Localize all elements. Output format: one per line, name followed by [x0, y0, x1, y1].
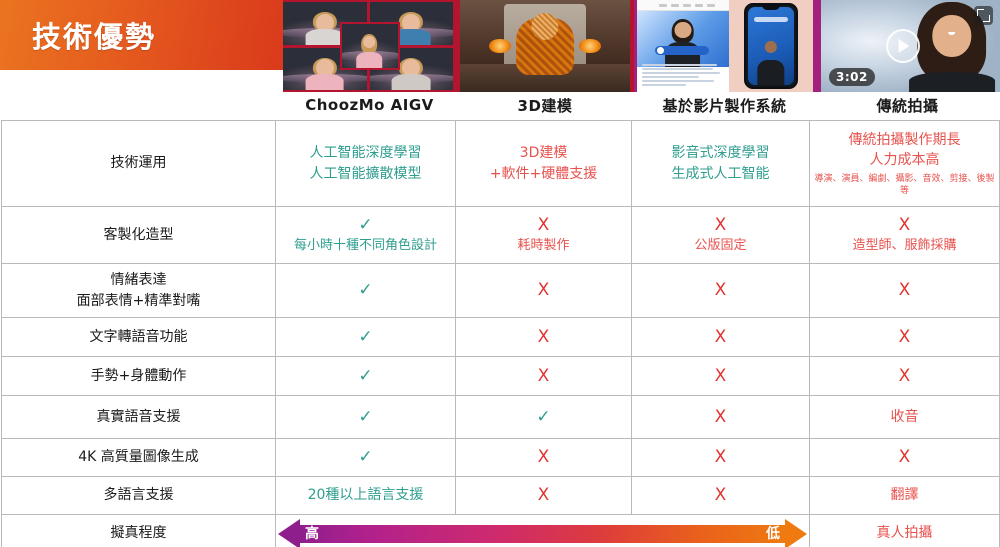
cell-custom-video: X 公版固定 [632, 207, 810, 264]
cell-lang-traditional: 翻譯 [810, 477, 1000, 515]
table-row: 技術運用 人工智能深度學習 人工智能擴散模型 3D建模 +軟件+硬體支援 影音式… [2, 121, 1000, 207]
table-row: 4K 高質量圖像生成 ✓ X X X [2, 439, 1000, 477]
cell-realism-traditional: 真人拍攝 [810, 515, 1000, 547]
cell-custom-aigv: ✓ 每小時十種不同角色設計 [276, 207, 456, 264]
cell-voice-traditional: 收音 [810, 396, 1000, 439]
row-label-line1: 情緒表達 [6, 270, 271, 290]
row-label-line2: 面部表情+精準對嘴 [6, 291, 271, 311]
row-label: 多語言支援 [2, 477, 276, 515]
header-image-traditional-shoot: 3:02 [815, 0, 1000, 92]
arrow-label-low: 低 [766, 526, 780, 542]
header-image-3d-model [456, 0, 634, 92]
cell-tech-3d: 3D建模 +軟件+硬體支援 [456, 121, 632, 207]
table-row: 手勢+身體動作 ✓ X X X [2, 357, 1000, 396]
column-header-traditional-shoot: 傳統拍攝 [815, 92, 1000, 118]
cell-lang-video: X [632, 477, 810, 515]
cell-emotion-traditional: X [810, 264, 1000, 318]
row-label: 情緒表達 面部表情+精準對嘴 [2, 264, 276, 318]
cell-voice-aigv: ✓ [276, 396, 456, 439]
arrow-head-left-icon [278, 519, 300, 547]
cell-gesture-3d: X [456, 357, 632, 396]
table-row: 客製化造型 ✓ 每小時十種不同角色設計 X 耗時製作 X 公版固定 X 造型師、… [2, 207, 1000, 264]
table-row: 情緒表達 面部表情+精準對嘴 ✓ X X X [2, 264, 1000, 318]
header-image-strip: 3:02 [283, 0, 1000, 92]
cell-custom-traditional: X 造型師、服飾採購 [810, 207, 1000, 264]
realism-gradient-arrow: 高 低 [276, 515, 810, 547]
row-label: 客製化造型 [2, 207, 276, 264]
arrow-label-high: 高 [305, 526, 319, 542]
cell-voice-3d: ✓ [456, 396, 632, 439]
row-label: 文字轉語音功能 [2, 318, 276, 357]
cell-tts-video: X [632, 318, 810, 357]
cell-4k-aigv: ✓ [276, 439, 456, 477]
column-header-video-system: 基於影片製作系統 [634, 92, 815, 118]
title-banner: 技術優勢 [0, 0, 283, 70]
cell-4k-traditional: X [810, 439, 1000, 477]
slide-root: 技術優勢 [0, 0, 1000, 547]
cell-tech-aigv: 人工智能深度學習 人工智能擴散模型 [276, 121, 456, 207]
cell-custom-3d: X 耗時製作 [456, 207, 632, 264]
cell-tts-3d: X [456, 318, 632, 357]
table-row: 文字轉語音功能 ✓ X X X [2, 318, 1000, 357]
cell-gesture-traditional: X [810, 357, 1000, 396]
expand-icon[interactable] [974, 6, 993, 25]
cell-emotion-aigv: ✓ [276, 264, 456, 318]
table-row: 真實語音支援 ✓ ✓ X 收音 [2, 396, 1000, 439]
page-title: 技術優勢 [32, 14, 156, 56]
cell-4k-video: X [632, 439, 810, 477]
cell-emotion-video: X [632, 264, 810, 318]
header-image-choozmo-aigv [283, 0, 456, 92]
cell-emotion-3d: X [456, 264, 632, 318]
cell-tech-video: 影音式深度學習 生成式人工智能 [632, 121, 810, 207]
cell-voice-video: X [632, 396, 810, 439]
cell-lang-3d: X [456, 477, 632, 515]
cell-gesture-video: X [632, 357, 810, 396]
arrow-bar [300, 525, 785, 543]
table-row: 擬真程度 高 低 真人拍攝 [2, 515, 1000, 547]
comparison-table: 技術運用 人工智能深度學習 人工智能擴散模型 3D建模 +軟件+硬體支援 影音式… [1, 120, 1000, 547]
row-label: 技術運用 [2, 121, 276, 207]
column-captions: ChoozMo AIGV 3D建模 基於影片製作系統 傳統拍攝 [283, 92, 1000, 118]
cell-gesture-aigv: ✓ [276, 357, 456, 396]
avatar-thumb-center [340, 22, 400, 70]
cell-tech-traditional: 傳統拍攝製作期長 人力成本高 導演、演員、編劇、攝影、音效、剪接、後製等 [810, 121, 1000, 207]
table-row: 多語言支援 20種以上語言支援 X X 翻譯 [2, 477, 1000, 515]
row-label: 手勢+身體動作 [2, 357, 276, 396]
row-label: 真實語音支援 [2, 396, 276, 439]
cell-lang-aigv: 20種以上語言支援 [276, 477, 456, 515]
cell-4k-3d: X [456, 439, 632, 477]
cell-tts-traditional: X [810, 318, 1000, 357]
row-label: 4K 高質量圖像生成 [2, 439, 276, 477]
column-header-choozmo-aigv: ChoozMo AIGV [283, 92, 456, 118]
header-image-video-system [634, 0, 815, 92]
arrow-head-right-icon [785, 519, 807, 547]
play-icon[interactable] [886, 29, 920, 63]
video-duration-badge: 3:02 [829, 68, 875, 86]
column-header-3d-model: 3D建模 [456, 92, 634, 118]
row-label: 擬真程度 [2, 515, 276, 547]
cell-tts-aigv: ✓ [276, 318, 456, 357]
